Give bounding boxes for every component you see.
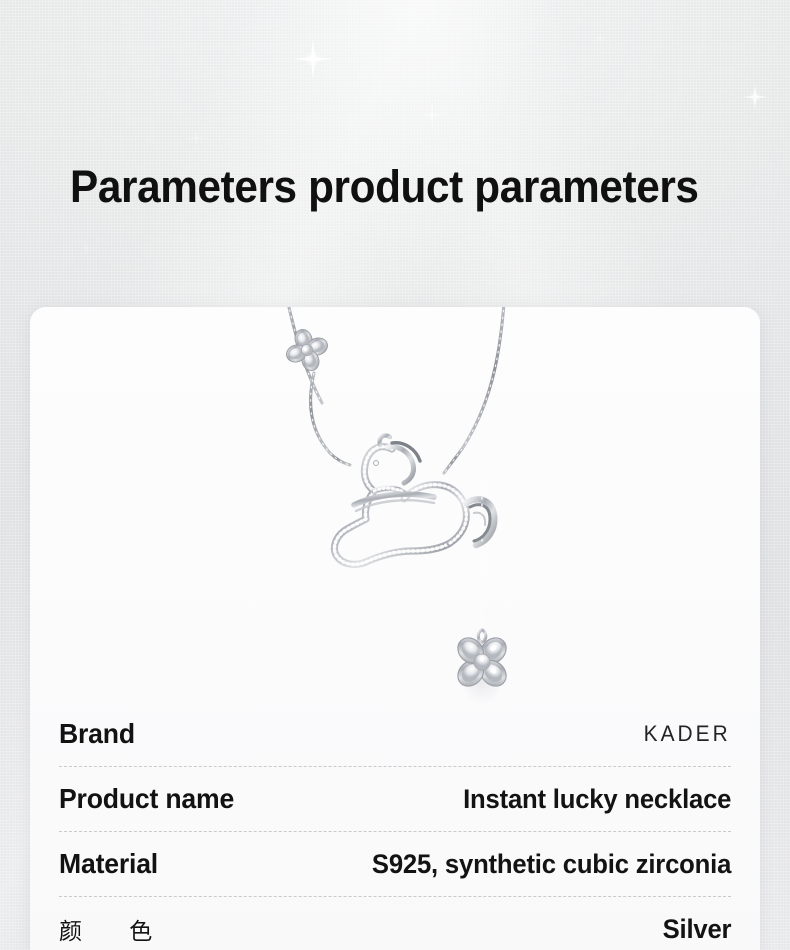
spec-value-color: Silver <box>662 914 731 945</box>
silver-necklace-photo <box>30 307 760 707</box>
spec-label-product-name: Product name <box>59 783 234 815</box>
sparkle-icon <box>594 32 607 45</box>
spec-value-product-name: Instant lucky necklace <box>463 784 731 815</box>
clover-pendant-large <box>440 620 525 707</box>
sparkle-icon <box>742 84 768 110</box>
table-row: Product name Instant lucky necklace <box>59 766 731 831</box>
product-parameters-page: Parameters product parameters <box>0 0 790 950</box>
spec-label-brand: Brand <box>59 718 135 750</box>
pony-pendant <box>334 435 494 564</box>
sparkle-icon <box>293 39 333 79</box>
sparkle-icon <box>422 105 442 125</box>
spec-value-brand: KADER <box>644 721 731 747</box>
sparkle-icon <box>80 242 92 254</box>
spec-table: Brand KADER Product name Instant lucky n… <box>59 702 731 950</box>
spec-label-color: 颜 色 <box>59 912 172 946</box>
chain-left <box>288 307 350 465</box>
table-row: Brand KADER <box>59 702 731 766</box>
table-row: Material S925, synthetic cubic zirconia <box>59 831 731 896</box>
chain-right <box>444 307 504 473</box>
table-row: 颜 色 Silver <box>59 896 731 950</box>
clover-pendant-small <box>280 323 333 376</box>
spec-value-material: S925, synthetic cubic zirconia <box>372 849 731 880</box>
page-title: Parameters product parameters <box>70 158 690 216</box>
spec-label-material: Material <box>59 848 158 880</box>
product-card: Brand KADER Product name Instant lucky n… <box>30 307 760 950</box>
sparkle-icon <box>189 131 203 145</box>
